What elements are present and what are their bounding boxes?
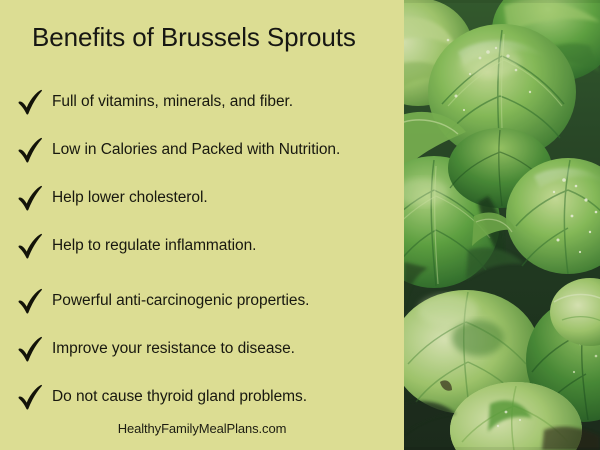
text-panel: Benefits of Brussels Sprouts Full of vit… — [0, 0, 404, 450]
check-icon — [14, 379, 48, 413]
list-item-label: Low in Calories and Packed with Nutritio… — [52, 140, 340, 160]
check-icon — [14, 180, 48, 214]
brussels-sprouts-photo — [404, 0, 600, 450]
list-item: Full of vitamins, minerals, and fiber. — [0, 77, 404, 125]
benefits-list: Full of vitamins, minerals, and fiber. L… — [0, 77, 404, 420]
check-icon — [14, 84, 48, 118]
check-icon — [14, 132, 48, 166]
list-item-label: Powerful anti-carcinogenic properties. — [52, 291, 309, 311]
list-item: Do not cause thyroid gland problems. — [0, 372, 404, 420]
list-item: Help to regulate inflammation. — [0, 221, 404, 269]
list-item: Improve your resistance to disease. — [0, 324, 404, 372]
check-icon — [14, 228, 48, 262]
list-item-label: Improve your resistance to disease. — [52, 339, 295, 359]
list-item-label: Full of vitamins, minerals, and fiber. — [52, 92, 293, 112]
infographic-poster: Benefits of Brussels Sprouts Full of vit… — [0, 0, 600, 450]
list-item-label: Help to regulate inflammation. — [52, 236, 256, 256]
check-icon — [14, 331, 48, 365]
list-item-label: Do not cause thyroid gland problems. — [52, 387, 307, 407]
site-credit: HealthyFamilyMealPlans.com — [0, 420, 404, 437]
list-item-label: Help lower cholesterol. — [52, 188, 208, 208]
page-title: Benefits of Brussels Sprouts — [32, 20, 392, 54]
list-item: Low in Calories and Packed with Nutritio… — [0, 125, 404, 173]
list-item: Powerful anti-carcinogenic properties. — [0, 276, 404, 324]
check-icon — [14, 283, 48, 317]
list-item: Help lower cholesterol. — [0, 173, 404, 221]
